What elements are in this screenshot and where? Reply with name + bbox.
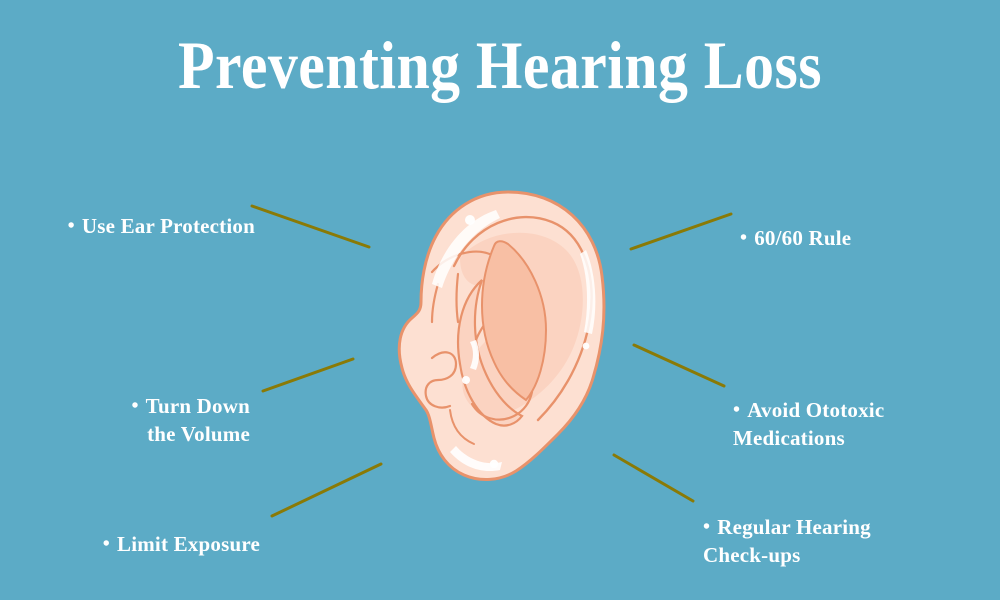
tip-label-regular-hearing-check-ups: •Regular Hearing Check-ups (703, 487, 963, 569)
tip-text: Limit Exposure (117, 532, 260, 556)
connector-line-limit-exposure (272, 464, 381, 516)
tip-label-limit-exposure: •Limit Exposure (20, 504, 260, 559)
infographic-canvas: Preventing Hearing Loss (0, 0, 1000, 600)
page-title: Preventing Hearing Loss (60, 30, 940, 101)
ear-illustration (390, 188, 622, 484)
ear-highlight-dot-mid (462, 376, 470, 384)
connector-line-avoid-ototoxic-medications (634, 345, 724, 386)
bullet-icon: • (703, 514, 710, 540)
tip-label-60-60-rule: •60/60 Rule (740, 198, 980, 253)
tip-text: Avoid Ototoxic Medications (733, 398, 884, 449)
ear-highlight-dot-top (465, 215, 475, 225)
tip-text: Regular Hearing Check-ups (703, 515, 871, 566)
tip-label-avoid-ototoxic-medications: •Avoid Ototoxic Medications (733, 370, 983, 452)
ear-highlight-dot-lobe (490, 460, 498, 468)
ear-highlight-dot-right (583, 343, 590, 350)
connector-line-60-60-rule (631, 214, 731, 249)
connector-line-use-ear-protection (252, 206, 369, 247)
bullet-icon: • (68, 213, 75, 239)
tip-label-turn-down-the-volume: •Turn Down the Volume (20, 366, 250, 448)
tip-text: Use Ear Protection (82, 214, 255, 238)
tip-text: Turn Down the Volume (146, 394, 250, 445)
bullet-icon: • (733, 397, 740, 423)
bullet-icon: • (103, 531, 110, 557)
bullet-icon: • (131, 393, 138, 419)
connector-line-turn-down-the-volume (263, 359, 353, 391)
tip-text: 60/60 Rule (754, 226, 851, 250)
bullet-icon: • (740, 225, 747, 251)
tip-label-use-ear-protection: •Use Ear Protection (20, 186, 255, 241)
connector-line-regular-hearing-check-ups (614, 455, 693, 501)
